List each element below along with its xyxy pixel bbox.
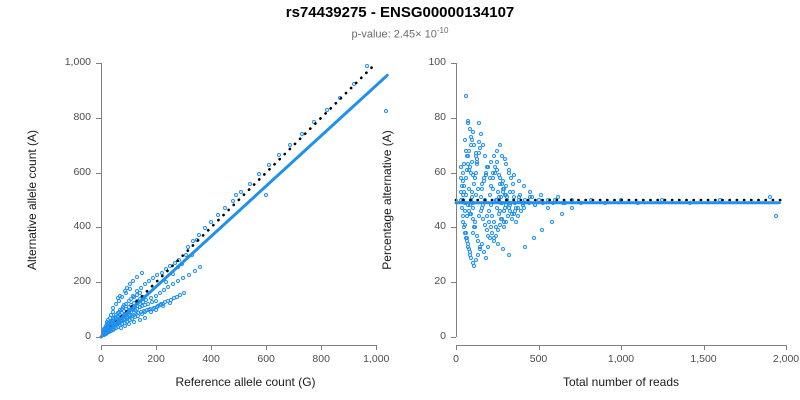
x-tick-mark <box>621 345 622 350</box>
y-tick-label: 100 <box>402 56 446 68</box>
x-tick-label: 2,000 <box>756 353 800 365</box>
x-tick-mark <box>456 345 457 350</box>
right-x-axis-title: Total number of reads <box>396 375 800 389</box>
y-tick-mark <box>451 173 456 174</box>
x-tick-label: 1,000 <box>591 353 651 365</box>
y-tick-label: 20 <box>402 275 446 287</box>
x-tick-label: 0 <box>426 353 486 365</box>
figure-root: rs74439275 - ENSG00000134107 p-value: 2.… <box>0 0 800 400</box>
x-tick-label: 500 <box>509 353 569 365</box>
y-tick-mark <box>451 282 456 283</box>
y-tick-label: 60 <box>402 166 446 178</box>
y-tick-label: 40 <box>402 220 446 232</box>
y-tick-label: 0 <box>402 330 446 342</box>
right-y-axis-line <box>456 63 457 337</box>
x-tick-label: 1,500 <box>674 353 734 365</box>
y-tick-mark <box>451 227 456 228</box>
y-tick-label: 80 <box>402 111 446 123</box>
x-tick-mark <box>539 345 540 350</box>
x-tick-mark <box>704 345 705 350</box>
y-tick-mark <box>451 63 456 64</box>
right-plot-lines <box>0 0 800 400</box>
x-tick-mark <box>786 345 787 350</box>
y-tick-mark <box>451 118 456 119</box>
right-y-axis-title: Percentage alternative (A) <box>380 130 394 269</box>
y-tick-mark <box>451 337 456 338</box>
